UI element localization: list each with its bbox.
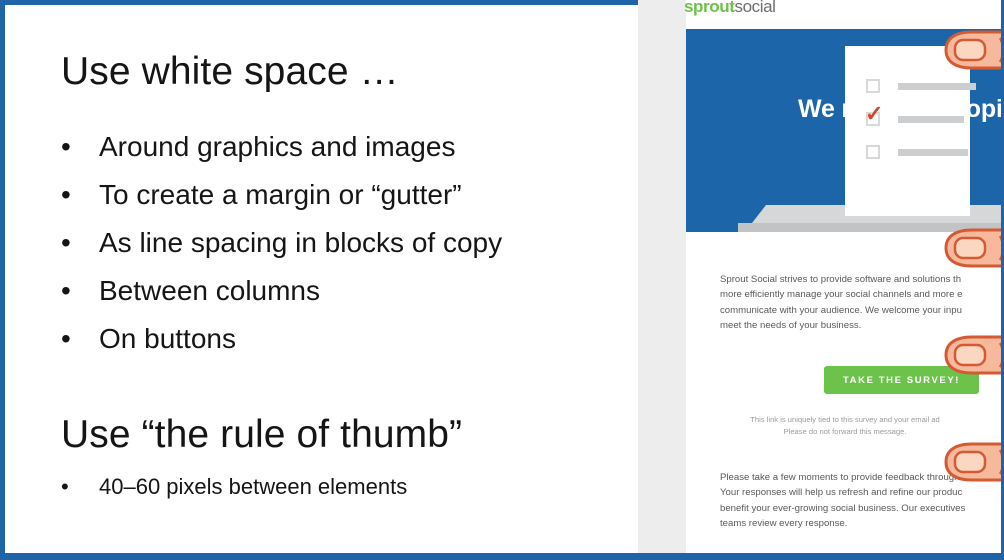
list-item: • 40–60 pixels between elements (61, 471, 407, 503)
email-paragraph-1: Sprout Social strives to provide softwar… (720, 272, 1004, 334)
bullet-list-white-space: • Around graphics and images • To create… (61, 123, 502, 363)
text-placeholder-bar-1 (898, 83, 976, 90)
paragraph-line: benefit your ever-growing social busines… (720, 501, 1004, 516)
list-item: • Around graphics and images (61, 123, 502, 171)
list-item-label: On buttons (99, 315, 236, 363)
email-example-panel: sproutsocial We need your opin ✓ (638, 0, 1004, 553)
fineprint-line: Please do not forward this message. (686, 426, 1004, 438)
list-item-label: To create a margin or “gutter” (99, 171, 462, 219)
paragraph-line: communicate with your audience. We welco… (720, 303, 1004, 318)
bullet-list-rule-of-thumb: • 40–60 pixels between elements (61, 471, 407, 503)
bullet-icon: • (61, 123, 99, 171)
paragraph-line: teams review every response. (720, 516, 1004, 531)
list-item-label: Around graphics and images (99, 123, 455, 171)
bullet-icon: • (61, 471, 99, 503)
paragraph-line: meet the needs of your business. (720, 318, 1004, 333)
paragraph-line: Sprout Social strives to provide softwar… (720, 272, 1004, 287)
sprout-social-logo: sproutsocial (684, 0, 776, 17)
text-placeholder-bar-2 (898, 116, 964, 123)
thumb-measure-icon (942, 334, 1004, 376)
list-item: • As line spacing in blocks of copy (61, 219, 502, 267)
text-placeholder-bar-3 (898, 149, 968, 156)
bullet-icon: • (61, 315, 99, 363)
bullet-icon: • (61, 171, 99, 219)
list-item: • Between columns (61, 267, 502, 315)
bullet-icon: • (61, 219, 99, 267)
slide-title-rule-of-thumb: Use “the rule of thumb” (61, 413, 462, 457)
fineprint-line: This link is uniquely tied to this surve… (686, 414, 1004, 426)
check-icon: ✓ (865, 103, 883, 125)
checkbox-unchecked-1 (866, 79, 880, 93)
list-item: • On buttons (61, 315, 502, 363)
screenshot-root: Use white space … • Around graphics and … (0, 0, 1004, 560)
slide-title-white-space: Use white space … (61, 50, 399, 94)
logo-word-sprout: sprout (684, 0, 734, 16)
checkbox-unchecked-3 (866, 145, 880, 159)
thumb-measure-icon (942, 441, 1004, 483)
email-fineprint: This link is uniquely tied to this surve… (686, 414, 1004, 437)
logo-word-social: social (734, 0, 775, 16)
thumb-measure-icon (942, 227, 1004, 269)
paragraph-line: Your responses will help us refresh and … (720, 485, 1004, 500)
survey-card: ✓ (845, 46, 970, 216)
list-item-label: As line spacing in blocks of copy (99, 219, 502, 267)
list-item: • To create a margin or “gutter” (61, 171, 502, 219)
list-item-label: Between columns (99, 267, 320, 315)
thumb-measure-icon (942, 29, 1004, 71)
paragraph-line: more efficiently manage your social chan… (720, 287, 1004, 302)
list-item-label: 40–60 pixels between elements (99, 471, 407, 503)
bullet-icon: • (61, 267, 99, 315)
slide-content-area: Use white space … • Around graphics and … (5, 5, 643, 553)
